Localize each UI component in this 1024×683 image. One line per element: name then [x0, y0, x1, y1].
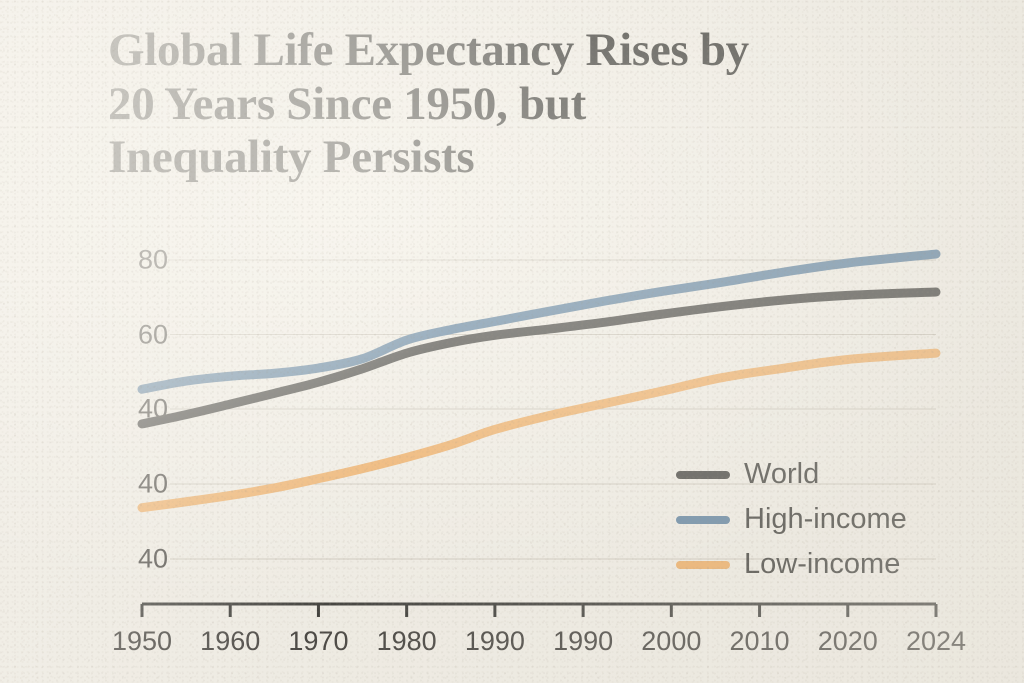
chart-legend: WorldHigh-incomeLow-income [676, 452, 926, 587]
legend-item-high-income[interactable]: High-income [676, 497, 926, 542]
legend-swatch-icon [676, 516, 730, 524]
y-axis-tick-label: 40 [104, 394, 168, 425]
x-axis-tick-label: 2000 [641, 626, 701, 657]
x-axis-tick-label: 1980 [377, 626, 437, 657]
legend-item-world[interactable]: World [676, 452, 926, 497]
legend-item-label: Low-income [744, 548, 900, 581]
series-line-high-income [142, 254, 936, 389]
y-axis-tick-label: 40 [104, 469, 168, 500]
x-axis-tick-label: 1970 [288, 626, 348, 657]
legend-swatch-icon [676, 471, 730, 479]
chart-figure: Global Life Expectancy Rises by 20 Years… [0, 0, 1024, 683]
y-axis-tick-label: 60 [104, 319, 168, 350]
legend-item-label: World [744, 458, 819, 491]
x-axis-tick-label: 1990 [465, 626, 525, 657]
y-axis-tick-label: 80 [104, 245, 168, 276]
x-axis-tick-label: 2024 [906, 626, 966, 657]
x-axis-tick-label: 1960 [200, 626, 260, 657]
y-axis-tick-label: 40 [104, 544, 168, 575]
legend-swatch-icon [676, 561, 730, 569]
legend-item-low-income[interactable]: Low-income [676, 542, 926, 587]
y-axis-labels: 8060404040 [104, 0, 168, 683]
plot-area: 8060404040 19501960197019801990199020002… [0, 0, 1024, 683]
x-axis-tick-label: 2010 [730, 626, 790, 657]
legend-item-label: High-income [744, 503, 907, 536]
x-axis-tick-label: 1950 [112, 626, 172, 657]
x-axis-tick-label: 1990 [553, 626, 613, 657]
x-axis-labels: 1950196019701980199019902000201020202024 [0, 626, 1024, 666]
x-axis-tick-label: 2020 [818, 626, 878, 657]
x-axis-ticks [142, 604, 936, 617]
